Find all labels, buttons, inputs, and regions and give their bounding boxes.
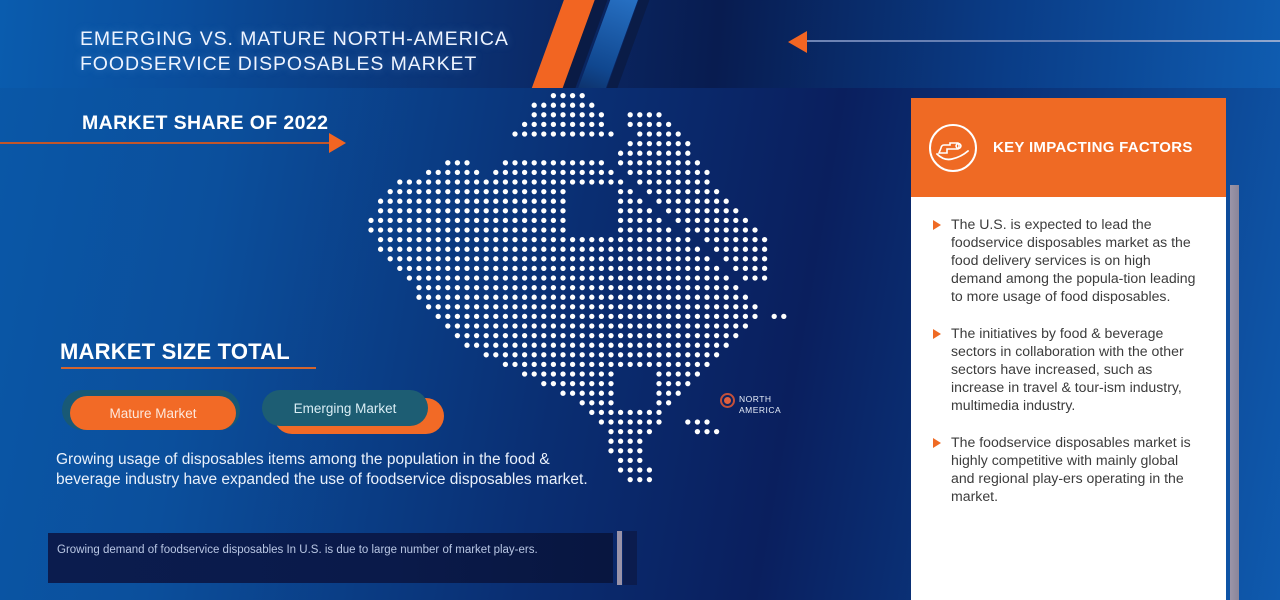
list-item-text: The U.S. is expected to lead the foodser… bbox=[951, 215, 1204, 305]
key-factors-title: KEY IMPACTING FACTORS bbox=[993, 139, 1193, 156]
market-size-total-rule bbox=[61, 367, 316, 369]
market-share-label: MARKET SHARE OF 2022 bbox=[82, 112, 328, 135]
legend-pill-mature-label: Mature Market bbox=[70, 396, 236, 430]
hand-holding-key-icon bbox=[929, 124, 977, 172]
infographic-canvas: EMERGING VS. MATURE NORTH-AMERICA FOODSE… bbox=[0, 0, 1280, 600]
list-item: The foodservice disposables market is hi… bbox=[933, 433, 1204, 505]
key-factors-header: KEY IMPACTING FACTORS bbox=[911, 98, 1226, 197]
location-target-dot bbox=[724, 397, 731, 404]
market-size-total-label: MARKET SIZE TOTAL bbox=[60, 339, 290, 365]
key-factors-list: The U.S. is expected to lead the foodser… bbox=[911, 215, 1226, 524]
footer-accent-bar bbox=[617, 531, 622, 585]
map-region-label-line2: AMERICA bbox=[739, 405, 781, 416]
legend-pill-emerging-label: Emerging Market bbox=[262, 390, 428, 426]
list-item: The initiatives by food & beverage secto… bbox=[933, 324, 1204, 414]
footer-note: Growing demand of foodservice disposable… bbox=[57, 543, 602, 558]
footer-panel bbox=[48, 533, 613, 583]
list-item-text: The initiatives by food & beverage secto… bbox=[951, 324, 1204, 414]
market-size-description: Growing usage of disposables items among… bbox=[56, 450, 601, 489]
list-item: The U.S. is expected to lead the foodser… bbox=[933, 215, 1204, 305]
page-title: EMERGING VS. MATURE NORTH-AMERICA FOODSE… bbox=[80, 27, 509, 77]
map-region-label: NORTH AMERICA bbox=[739, 394, 781, 416]
triangle-right-icon bbox=[933, 215, 951, 305]
triangle-right-icon bbox=[933, 324, 951, 414]
key-factors-panel-shadow bbox=[1230, 185, 1239, 600]
triangle-right-icon bbox=[933, 433, 951, 505]
legend-pill-mature-market[interactable]: Mature Market bbox=[62, 390, 252, 436]
market-share-rule bbox=[0, 142, 330, 144]
arrow-right-icon bbox=[329, 133, 346, 153]
list-item-text: The foodservice disposables market is hi… bbox=[951, 433, 1204, 505]
footer-accent-bar-2 bbox=[623, 531, 637, 585]
header-arrow-line bbox=[806, 40, 1280, 42]
map-region-label-line1: NORTH bbox=[739, 394, 781, 405]
arrow-left-icon bbox=[788, 31, 807, 53]
header-band: EMERGING VS. MATURE NORTH-AMERICA FOODSE… bbox=[0, 0, 1280, 88]
legend-pill-emerging-market[interactable]: Emerging Market bbox=[258, 388, 448, 438]
